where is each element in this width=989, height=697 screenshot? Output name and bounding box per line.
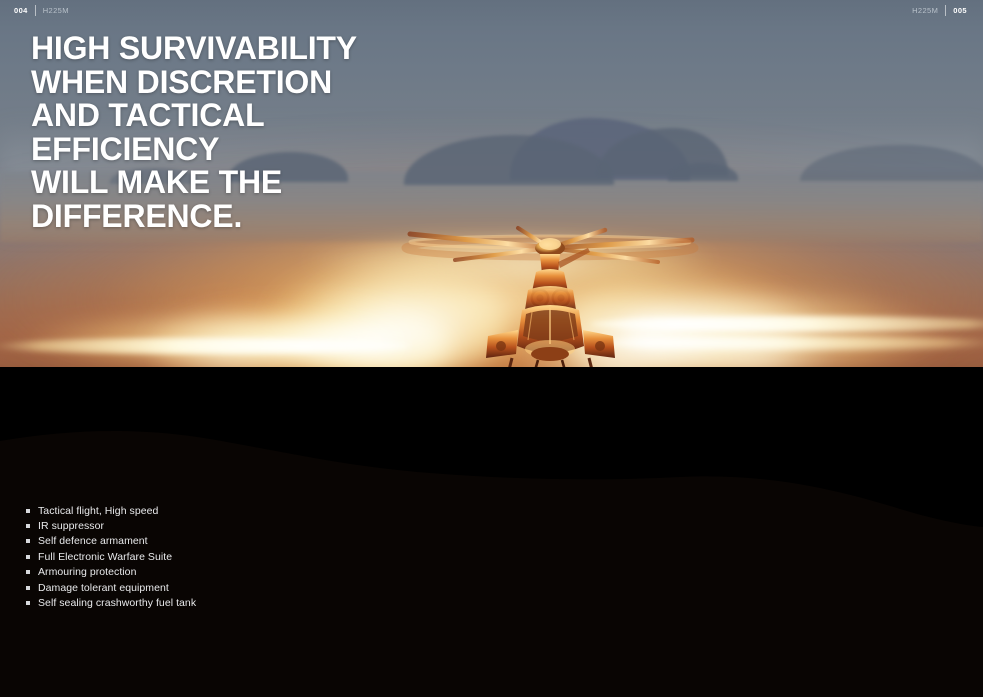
headline-line: AND TACTICAL <box>31 99 357 133</box>
header-left: 004 H225M <box>14 5 69 16</box>
page-headline: HIGH SURVIVABILITY WHEN DISCRETION AND T… <box>31 32 357 234</box>
list-item: Damage tolerant equipment <box>26 580 196 595</box>
list-item: IR suppressor <box>26 518 196 533</box>
headline-line: WILL MAKE THE <box>31 166 357 200</box>
square-bullet-icon <box>26 509 30 513</box>
header-divider <box>945 5 946 16</box>
square-bullet-icon <box>26 539 30 543</box>
page-number-left: 004 <box>14 6 28 15</box>
list-item: Tactical flight, High speed <box>26 503 196 518</box>
feature-list: Tactical flight, High speed IR suppresso… <box>26 503 196 611</box>
header-right: H225M 005 <box>912 5 967 16</box>
product-name-left: H225M <box>43 6 69 15</box>
feature-label: Self sealing crashworthy fuel tank <box>38 597 196 609</box>
page-number-right: 005 <box>953 6 967 15</box>
list-item: Self defence armament <box>26 534 196 549</box>
list-item: Armouring protection <box>26 565 196 580</box>
feature-label: IR suppressor <box>38 520 104 532</box>
headline-line: EFFICIENCY <box>31 133 357 167</box>
feature-label: Self defence armament <box>38 535 148 547</box>
square-bullet-icon <box>26 586 30 590</box>
square-bullet-icon <box>26 555 30 559</box>
feature-label: Tactical flight, High speed <box>38 505 158 517</box>
list-item: Self sealing crashworthy fuel tank <box>26 595 196 610</box>
running-header: 004 H225M H225M 005 <box>0 0 983 22</box>
list-item: Full Electronic Warfare Suite <box>26 549 196 564</box>
headline-line: WHEN DISCRETION <box>31 66 357 100</box>
feature-label: Full Electronic Warfare Suite <box>38 551 172 563</box>
brochure-spread: 004 H225M H225M 005 HIGH SURVIVABILITY W… <box>0 0 989 697</box>
square-bullet-icon <box>26 524 30 528</box>
feature-label: Armouring protection <box>38 566 136 578</box>
product-name-right: H225M <box>912 6 938 15</box>
square-bullet-icon <box>26 570 30 574</box>
headline-line: DIFFERENCE. <box>31 200 357 234</box>
headline-line: HIGH SURVIVABILITY <box>31 32 357 66</box>
square-bullet-icon <box>26 601 30 605</box>
feature-label: Damage tolerant equipment <box>38 582 169 594</box>
page-edge-margin <box>983 0 989 697</box>
header-divider <box>35 5 36 16</box>
